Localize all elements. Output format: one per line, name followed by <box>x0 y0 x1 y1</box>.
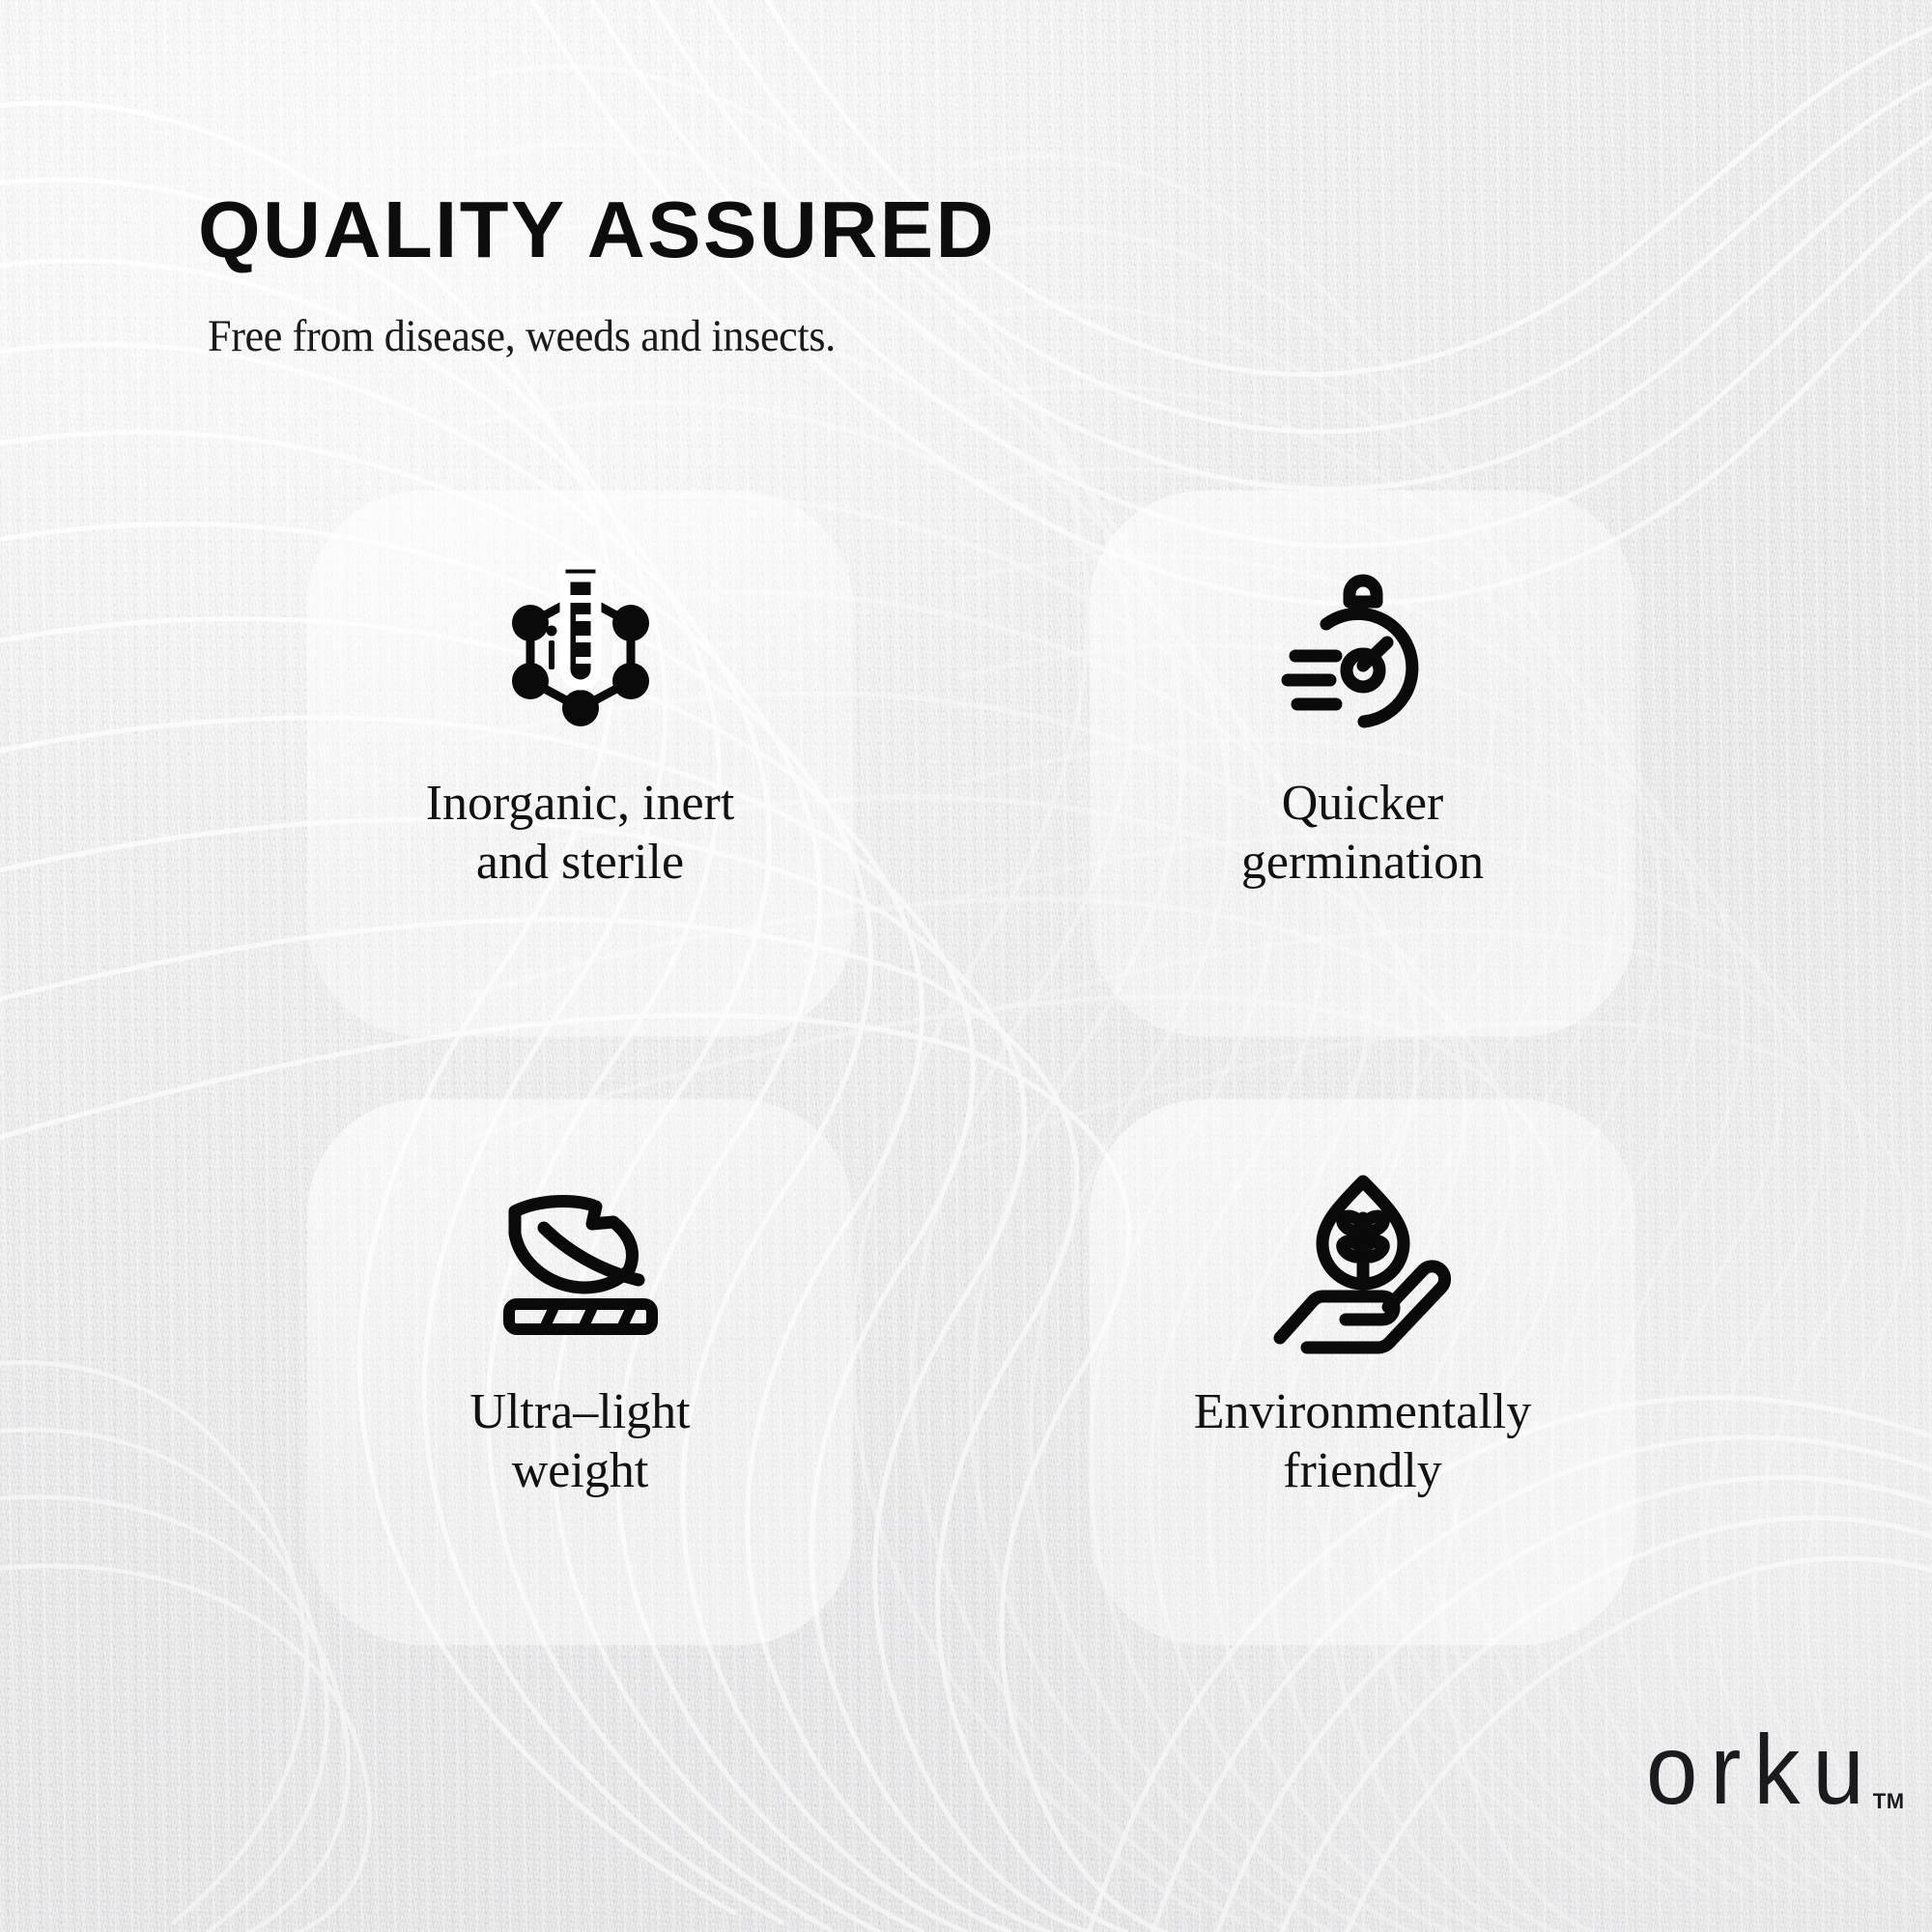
feature-card-germination[interactable]: Quickergermination <box>1090 491 1635 1037</box>
trademark-mark: TM <box>1873 1789 1905 1814</box>
molecule-test-tube-icon <box>479 551 682 753</box>
feature-card-label: Ultra–lightweight <box>329 1383 832 1501</box>
feature-card-label: Inorganic, inertand sterile <box>329 775 832 893</box>
feather-on-mat-icon <box>479 1159 682 1362</box>
feature-card-inorganic[interactable]: Inorganic, inertand sterile <box>307 491 853 1037</box>
feature-card-grid: Inorganic, inertand sterile <box>0 0 1932 1932</box>
brand-logo: orku TM <box>1646 1727 1905 1820</box>
feature-card-label: Environmentallyfriendly <box>1112 1383 1614 1501</box>
feature-card-eco[interactable]: Environmentallyfriendly <box>1090 1099 1635 1645</box>
brand-name: orku <box>1646 1721 1877 1820</box>
fast-stopwatch-icon <box>1262 551 1464 753</box>
feature-card-lightweight[interactable]: Ultra–lightweight <box>307 1099 853 1645</box>
leaf-in-hand-icon <box>1262 1159 1464 1362</box>
poster-canvas: QUALITY ASSURED Free from disease, weeds… <box>0 0 1932 1932</box>
feature-card-label: Quickergermination <box>1112 775 1614 893</box>
